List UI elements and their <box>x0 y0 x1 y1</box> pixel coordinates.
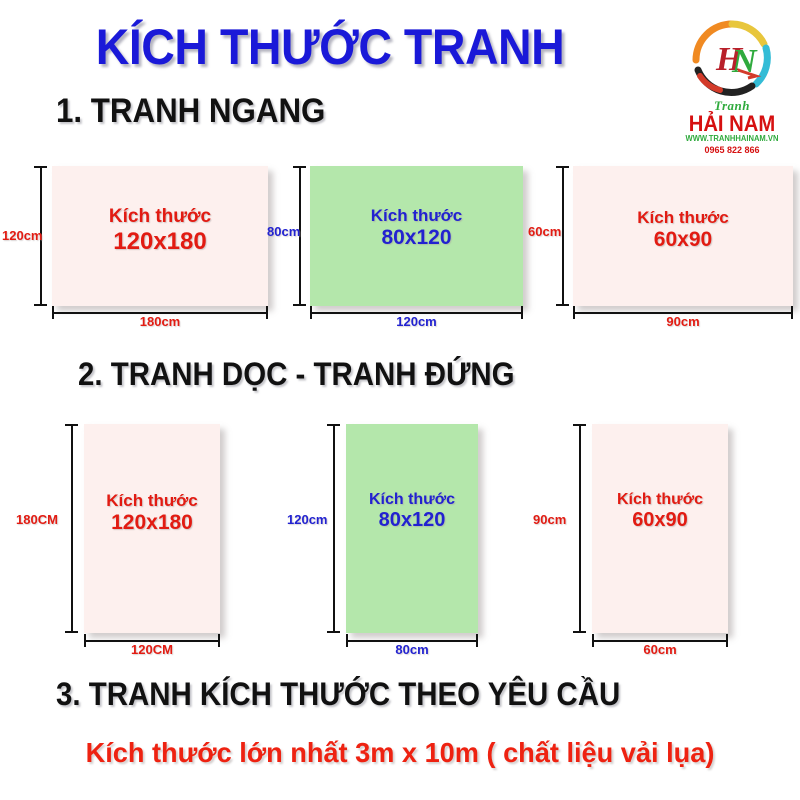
dimension-tick-top-h1 <box>34 166 47 168</box>
dimension-label-height-h3: 60cm <box>528 224 561 239</box>
canvas-box-label: Kích thước 60x90 <box>573 208 793 252</box>
dimension-label-height-h1: 120cm <box>2 228 42 243</box>
dimension-tick-top-h2 <box>293 166 306 168</box>
dimension-line-height-v1 <box>71 424 73 633</box>
dimension-line-height-v3 <box>579 424 581 633</box>
canvas-box-horizontal-3: Kích thước 60x90 <box>573 166 793 306</box>
canvas-box-horizontal-2: Kích thước 80x120 <box>310 166 523 306</box>
canvas-box-label: Kích thước 120x180 <box>84 491 220 535</box>
dimension-tick-top-v3 <box>573 424 586 426</box>
canvas-box-vertical-2: Kích thước 80x120 <box>346 424 478 633</box>
dimension-tick-bottom-v2 <box>327 631 340 633</box>
dimension-label-width-h3: 90cm <box>573 314 793 329</box>
dimension-line-height-h3 <box>562 166 564 306</box>
dimension-label-height-v2: 120cm <box>287 512 327 527</box>
dimension-label-width-h2: 120cm <box>310 314 523 329</box>
dimension-line-height-v2 <box>333 424 335 633</box>
dimension-label-width-h1: 180cm <box>52 314 268 329</box>
canvas-box-horizontal-1: Kích thước 120x180 <box>52 166 268 306</box>
canvas-box-vertical-3: Kích thước 60x90 <box>592 424 728 633</box>
canvas-box-label: Kích thước 60x90 <box>592 491 728 532</box>
canvas-box-label: Kích thước 80x120 <box>346 491 478 532</box>
section-heading-theo-yeu-cau: 3. TRANH KÍCH THƯỚC THEO YÊU CẦU <box>56 676 620 713</box>
dimension-tick-bottom-v1 <box>65 631 78 633</box>
dimension-label-width-v2: 80cm <box>346 642 478 657</box>
brand-logo: H N Tranh HẢI NAM WWW.TRANHHAINAM.VN 096… <box>672 14 792 154</box>
canvas-box-vertical-1: Kích thước 120x180 <box>84 424 220 633</box>
dimension-tick-bottom-h3 <box>556 304 569 306</box>
dimension-tick-top-v2 <box>327 424 340 426</box>
page-title: KÍCH THƯỚC TRANH <box>23 18 637 76</box>
dimension-label-width-v1: 120CM <box>84 642 220 657</box>
infographic-page: KÍCH THƯỚC TRANH H N Tranh HẢI NAM WWW.T… <box>0 0 800 800</box>
canvas-box-label: Kích thước 80x120 <box>310 206 523 250</box>
dimension-label-height-h2: 80cm <box>267 224 300 239</box>
logo-phone: 0965 822 866 <box>672 145 792 155</box>
logo-circle-swoosh-icon: H N <box>686 14 778 98</box>
dimension-label-height-v3: 90cm <box>533 512 566 527</box>
dimension-label-height-v1: 180CM <box>16 512 58 527</box>
section-heading-tranh-ngang: 1. TRANH NGANG <box>56 92 325 131</box>
footer-note: Kích thước lớn nhất 3m x 10m ( chất liệu… <box>12 737 788 769</box>
section-heading-tranh-doc: 2. TRANH DỌC - TRANH ĐỨNG <box>78 356 515 393</box>
dimension-tick-top-h3 <box>556 166 569 168</box>
logo-website: WWW.TRANHHAINAM.VN <box>675 134 789 143</box>
dimension-tick-bottom-h1 <box>34 304 47 306</box>
dimension-tick-bottom-v3 <box>573 631 586 633</box>
dimension-label-width-v3: 60cm <box>592 642 728 657</box>
dimension-tick-top-v1 <box>65 424 78 426</box>
dimension-tick-bottom-h2 <box>293 304 306 306</box>
canvas-box-label: Kích thước 120x180 <box>52 206 268 255</box>
